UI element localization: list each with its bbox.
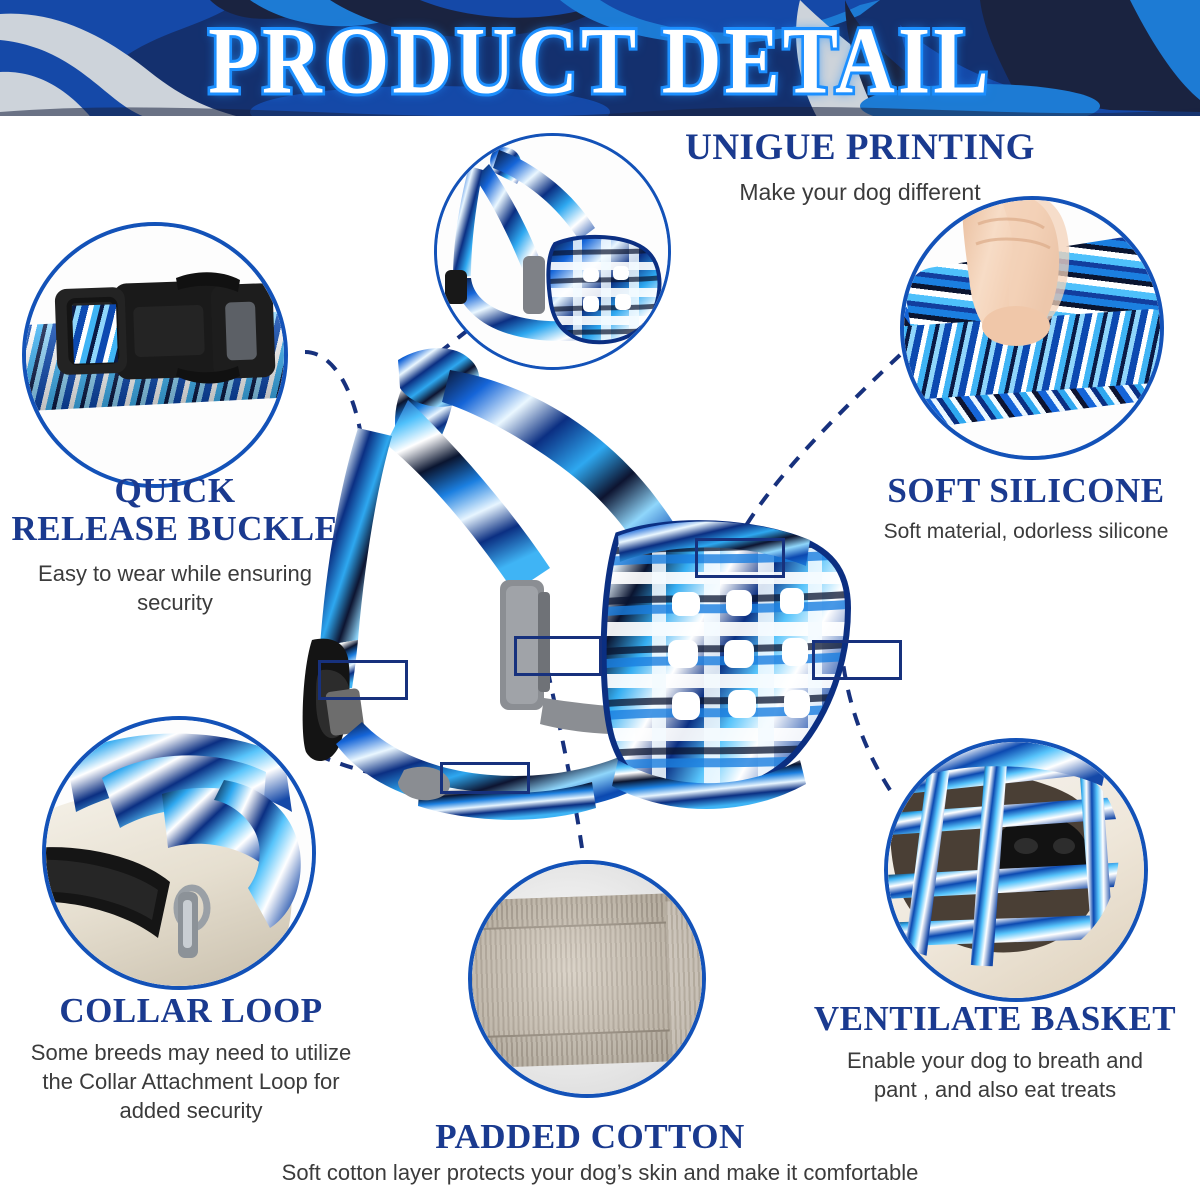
photo-soft-silicone — [900, 196, 1164, 460]
page-title: PRODUCT DETAIL — [0, 6, 1200, 116]
feature-padded-cotton-text: PADDED COTTON — [300, 1118, 880, 1156]
feature-title-ventilate-basket: VENTILATE BASKET — [790, 1000, 1200, 1038]
feature-subtitle-ventilate-basket-line2: pant , and also eat treats — [790, 1075, 1200, 1104]
center-product-image — [300, 340, 860, 850]
buckle-icon — [26, 226, 284, 484]
feature-title-collar-loop: COLLAR LOOP — [0, 992, 382, 1030]
photo-quick-release-buckle — [22, 222, 288, 488]
photo-padded-cotton — [468, 860, 706, 1098]
marker-basket-right — [812, 640, 902, 680]
feature-subtitle-collar-loop-line2: the Collar Attachment Loop for — [0, 1067, 382, 1096]
feature-quick-release-buckle-text: QUICK RELEASE BUCKLE Easy to wear while … — [0, 472, 350, 617]
feature-title-quick-release-buckle-line2: RELEASE BUCKLE — [0, 510, 350, 548]
feature-title-soft-silicone: SOFT SILICONE — [852, 472, 1200, 510]
feature-subtitle-quick-release-buckle-line2: security — [0, 588, 350, 617]
marker-padded-cotton — [514, 636, 602, 676]
feature-padded-cotton-subtitle: Soft cotton layer protects your dog’s sk… — [150, 1158, 1050, 1187]
photo-ventilate-basket — [884, 738, 1148, 1002]
feature-subtitle-padded-cotton: Soft cotton layer protects your dog’s sk… — [150, 1158, 1050, 1187]
finger-icon — [904, 200, 1160, 456]
feature-subtitle-quick-release-buckle-line1: Easy to wear while ensuring — [0, 559, 350, 588]
whole-muzzle-icon — [437, 136, 668, 367]
marker-buckle — [318, 660, 408, 700]
feature-subtitle-unique-printing: Make your dog different — [660, 177, 1060, 207]
feature-title-unique-printing: UNIGUE PRINTING — [660, 128, 1060, 168]
feature-collar-loop-text: COLLAR LOOP Some breeds may need to util… — [0, 992, 382, 1125]
header-banner: PRODUCT DETAIL — [0, 0, 1200, 122]
collar-loop-icon — [46, 720, 312, 986]
marker-silicone-top — [695, 538, 785, 578]
photo-unique-printing — [434, 133, 671, 370]
feature-ventilate-basket-text: VENTILATE BASKET Enable your dog to brea… — [790, 1000, 1200, 1104]
feature-subtitle-ventilate-basket-line1: Enable your dog to breath and — [790, 1046, 1200, 1075]
feature-unique-printing-text: UNIGUE PRINTING Make your dog different — [660, 128, 1060, 207]
feature-subtitle-soft-silicone: Soft material, odorless silicone — [852, 518, 1200, 546]
muzzle-illustration — [300, 340, 860, 850]
feature-soft-silicone-text: SOFT SILICONE Soft material, odorless si… — [852, 472, 1200, 546]
marker-collar-loop — [440, 762, 530, 794]
feature-title-padded-cotton: PADDED COTTON — [300, 1118, 880, 1156]
photo-collar-loop — [42, 716, 316, 990]
feature-subtitle-collar-loop-line1: Some breeds may need to utilize — [0, 1038, 382, 1067]
feature-title-quick-release-buckle-line1: QUICK — [0, 472, 350, 510]
banner-bottom-edge — [0, 116, 1200, 126]
dog-in-muzzle-icon — [888, 742, 1144, 998]
product-detail-infographic: PRODUCT DETAIL — [0, 0, 1200, 1196]
